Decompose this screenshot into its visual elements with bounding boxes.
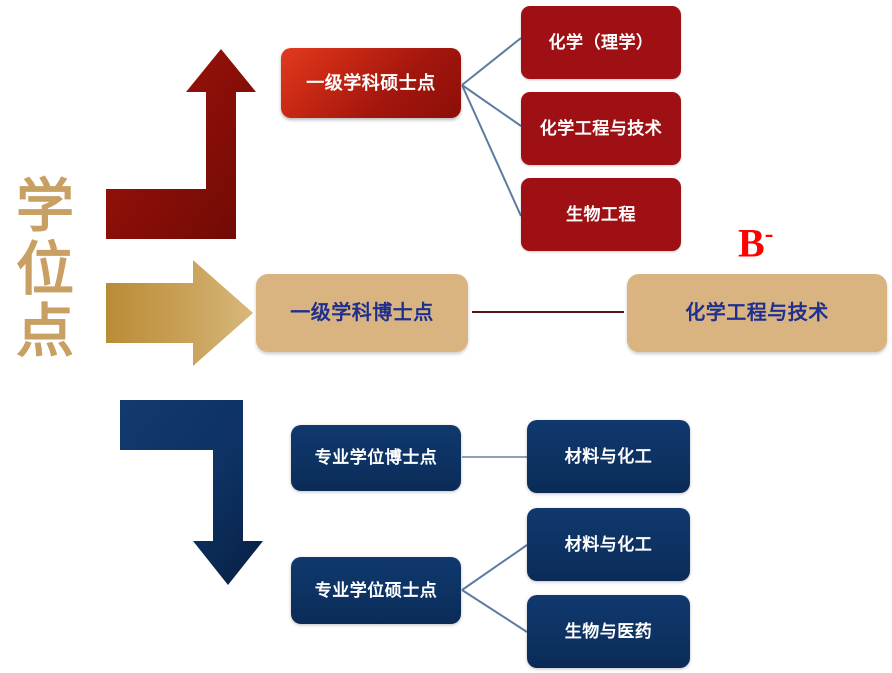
node-professional-doctoral-child-materials[interactable]: 材料与化工 <box>527 420 690 493</box>
node-professional-masters-parent[interactable]: 专业学位硕士点 <box>291 557 461 624</box>
node-academic-masters-child-chem-eng[interactable]: 化学工程与技术 <box>521 92 681 165</box>
side-label-char-3: 点 <box>6 301 84 364</box>
navy-bent-arrow-down-icon <box>120 400 263 585</box>
connector-prof-masters-2 <box>462 590 527 632</box>
node-academic-doctoral-child-chem-eng[interactable]: 化学工程与技术 <box>627 274 887 352</box>
diagram-canvas: 学 位 点 一级学科硕士点 化学（理学） 化学工程与技术 生物工程 一级学科博士… <box>0 0 892 673</box>
side-label-degree-programs: 学 位 点 <box>6 176 84 364</box>
connector-masters-2 <box>462 85 521 126</box>
connector-prof-masters-1 <box>462 545 527 590</box>
connector-masters-1 <box>462 38 521 85</box>
node-professional-masters-child-biomed[interactable]: 生物与医药 <box>527 595 690 668</box>
node-academic-masters-parent[interactable]: 一级学科硕士点 <box>281 48 461 118</box>
node-professional-masters-child-materials[interactable]: 材料与化工 <box>527 508 690 581</box>
side-label-char-2: 位 <box>6 239 84 302</box>
node-professional-doctoral-parent[interactable]: 专业学位博士点 <box>291 425 461 491</box>
grade-badge-letter: B <box>738 220 765 265</box>
node-academic-masters-child-bio-eng[interactable]: 生物工程 <box>521 178 681 251</box>
node-academic-doctoral-parent[interactable]: 一级学科博士点 <box>256 274 468 352</box>
connector-masters-3 <box>462 85 521 216</box>
gold-right-arrow-icon <box>106 260 253 366</box>
grade-badge: B- <box>738 221 773 263</box>
side-label-char-1: 学 <box>6 176 84 239</box>
node-academic-masters-child-chemistry[interactable]: 化学（理学） <box>521 6 681 79</box>
red-bent-arrow-up-icon <box>106 49 256 239</box>
grade-badge-modifier: - <box>765 219 774 248</box>
